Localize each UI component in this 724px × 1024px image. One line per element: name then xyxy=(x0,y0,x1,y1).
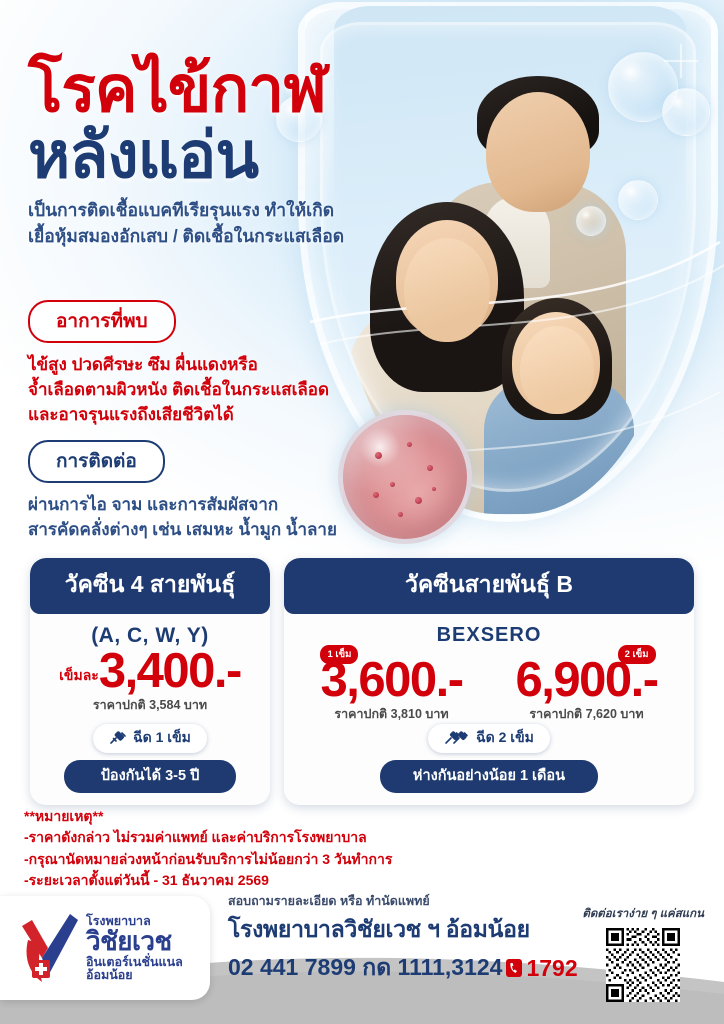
headline-line-2: หลังแอ่น xyxy=(28,123,344,187)
card-a-price-row: เข็มละ 3,400.- xyxy=(59,646,241,698)
transmission-line-2: สารคัดคลั่งต่างๆ เช่น เสมหะ น้ำมูก น้ำลา… xyxy=(28,517,337,542)
logo-line-3: อินเตอร์เนชั่นแนล xyxy=(86,956,183,969)
headline-description-line-1: เป็นการติดเชื้อแบคทีเรียรุนแรง ทำให้เกิด xyxy=(28,197,344,224)
qr-code[interactable] xyxy=(606,928,680,1002)
card-b-dose-chip: ฉีด 2 เข็ม xyxy=(428,724,550,753)
card-b-body: BEXSERO 1 เข็ม 3,600.- ราคาปกติ 3,810 บา… xyxy=(284,614,694,805)
hospital-logo: โรงพยาบาล วิชัยเวช อินเตอร์เนชั่นแนล อ้อ… xyxy=(0,896,210,1000)
transmission-heading: การติดต่อ xyxy=(28,440,165,483)
card-b-dose-label: ฉีด 2 เข็ม xyxy=(476,727,534,749)
qr-section: ติดต่อเราง่าย ๆ แค่สแกน xyxy=(582,905,704,1002)
card-b-dose-1-badge: 1 เข็ม xyxy=(320,645,358,664)
card-a-price: 3,400.- xyxy=(99,646,241,698)
card-b-dose-2-original: ราคาปกติ 7,620 บาท xyxy=(515,704,657,724)
logo-text: โรงพยาบาล วิชัยเวช อินเตอร์เนชั่นแนล อ้อ… xyxy=(86,915,183,982)
transmission-body: ผ่านการไอ จาม และการสัมผัสจาก สารคัดคลั่… xyxy=(28,492,337,542)
headline-description: เป็นการติดเชื้อแบคทีเรียรุนแรง ทำให้เกิด… xyxy=(28,197,344,250)
daughter-face xyxy=(520,326,594,414)
vaccine-promotion-poster: โรคไข้กาฬ หลังแอ่น เป็นการติดเชื้อแบคทีเ… xyxy=(0,0,724,1024)
card-b-price-dose-2: 2 เข็ม 6,900.- ราคาปกติ 7,620 บาท xyxy=(515,649,657,724)
transmission-line-1: ผ่านการไอ จาม และการสัมผัสจาก xyxy=(28,492,337,517)
sparkle-icon xyxy=(664,44,698,78)
phone-icon xyxy=(506,959,522,977)
logo-line-2: วิชัยเวช xyxy=(86,928,183,954)
poster-headline: โรคไข้กาฬ หลังแอ่น เป็นการติดเชื้อแบคทีเ… xyxy=(28,58,344,250)
transmission-section: การติดต่อ ผ่านการไอ จาม และการสัมผัสจาก … xyxy=(28,440,337,542)
card-a-dose-chip: ฉีด 1 เข็ม xyxy=(93,724,207,753)
logo-line-4: อ้อมน้อย xyxy=(86,969,183,982)
card-a-dose-label: ฉีด 1 เข็ม xyxy=(133,727,191,749)
symptoms-body: ไข้สูง ปวดศีรษะ ซึม ผื่นแดงหรือ จ้ำเลือด… xyxy=(28,352,329,427)
headline-description-line-2: เยื้อหุ้มสมองอักเสบ / ติดเชื้อในกระแสเลื… xyxy=(28,223,344,250)
contact-hospital-name: โรงพยาบาลวิชัยเวช ฯ อ้อมน้อย xyxy=(228,912,578,948)
bubble-icon xyxy=(662,88,710,136)
symptoms-line-2: จ้ำเลือดตามผิวหนัง ติดเชื้อในกระแสเลือด xyxy=(28,377,329,402)
card-a-title: วัคซีน 4 สายพันธุ์ xyxy=(30,558,270,614)
card-a-original-price: ราคาปกติ 3,584 บาท xyxy=(93,695,207,715)
contact-phone-number[interactable]: 02 441 7899 กด 1111,3124 xyxy=(228,950,502,986)
notes-line-2: -กรุณานัดหมายล่วงหน้าก่อนรับบริการไม่น้อ… xyxy=(24,849,392,870)
card-b-price-row: 1 เข็ม 3,600.- ราคาปกติ 3,810 บาท 2 เข็ม… xyxy=(294,649,684,724)
notes-title: **หมายเหตุ** xyxy=(24,806,392,827)
card-b-title: วัคซีนสายพันธุ์ B xyxy=(284,558,694,614)
card-b-price-dose-1: 1 เข็ม 3,600.- ราคาปกติ 3,810 บาท xyxy=(320,649,462,724)
mother-face xyxy=(404,238,490,342)
bacteria-sphere-graphic xyxy=(338,410,472,544)
card-b-dose-2-badge: 2 เข็ม xyxy=(618,645,656,664)
card-b-brand: BEXSERO xyxy=(437,624,542,647)
card-b-interval-pill: ห่างกันอย่างน้อย 1 เดือน xyxy=(380,760,598,793)
card-a-protection-pill: ป้องกันได้ 3-5 ปี xyxy=(64,760,236,793)
symptoms-section: อาการที่พบ ไข้สูง ปวดศีรษะ ซึม ผื่นแดงหร… xyxy=(28,300,329,427)
symptoms-line-3: และอาจรุนแรงถึงเสียชีวิตได้ xyxy=(28,402,329,427)
card-b-dose-1-original: ราคาปกติ 3,810 บาท xyxy=(320,704,462,724)
symptoms-heading: อาการที่พบ xyxy=(28,300,176,343)
bubble-icon xyxy=(576,206,606,236)
syringe-icon xyxy=(109,731,127,745)
price-cards: วัคซีน 4 สายพันธุ์ (A, C, W, Y) เข็มละ 3… xyxy=(0,558,724,805)
card-a-body: (A, C, W, Y) เข็มละ 3,400.- ราคาปกติ 3,5… xyxy=(30,614,270,805)
price-card-serogroup-b: วัคซีนสายพันธุ์ B BEXSERO 1 เข็ม 3,600.-… xyxy=(284,558,694,805)
contact-phone-row[interactable]: 02 441 7899 กด 1111,3124 1792 xyxy=(228,950,578,986)
price-card-quadrivalent: วัคซีน 4 สายพันธุ์ (A, C, W, Y) เข็มละ 3… xyxy=(30,558,270,805)
logo-checkmark-cross-icon xyxy=(18,910,80,986)
contact-hotline[interactable]: 1792 xyxy=(526,955,577,982)
notes-line-3: -ระยะเวลาตั้งแต่วันนี้ - 31 ธันวาคม 2569 xyxy=(24,870,392,891)
contact-info: สอบถามรายละเอียด หรือ ทำนัดแพทย์ โรงพยาบ… xyxy=(228,891,578,986)
contact-prompt: สอบถามรายละเอียด หรือ ทำนัดแพทย์ xyxy=(228,891,578,911)
qr-label: ติดต่อเราง่าย ๆ แค่สแกน xyxy=(582,905,704,923)
card-a-price-prefix: เข็มละ xyxy=(59,665,99,698)
notes-line-1: -ราคาดังกล่าว ไม่รวมค่าแพทย์ และค่าบริกา… xyxy=(24,827,392,848)
headline-line-1: โรคไข้กาฬ xyxy=(28,58,344,121)
terms-notes: **หมายเหตุ** -ราคาดังกล่าว ไม่รวมค่าแพทย… xyxy=(24,806,392,891)
bubble-icon xyxy=(618,180,658,220)
syringe-icon xyxy=(444,731,470,745)
symptoms-line-1: ไข้สูง ปวดศีรษะ ซึม ผื่นแดงหรือ xyxy=(28,352,329,377)
